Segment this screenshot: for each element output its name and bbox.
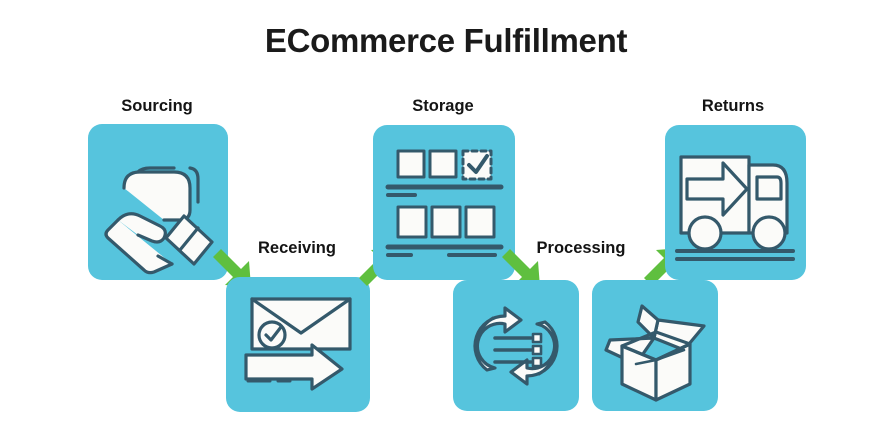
stage-label-storage: Storage <box>373 98 513 115</box>
stage-box-storage[interactable] <box>373 125 515 280</box>
stage-box-returns[interactable] <box>665 125 806 280</box>
delivery-truck-arrow-icon <box>665 125 806 280</box>
stage-label-returns: Returns <box>663 98 803 115</box>
warehouse-shelf-boxes-icon <box>373 125 515 280</box>
open-carton-box-icon <box>592 280 718 411</box>
stage-box-processing[interactable] <box>453 280 579 411</box>
circular-arrows-checklist-icon <box>453 280 579 411</box>
page-title: ECommerce Fulfillment <box>0 22 892 60</box>
envelope-check-arrow-icon <box>226 277 370 412</box>
stage-label-sourcing: Sourcing <box>87 98 227 115</box>
stage-box-packing[interactable] <box>592 280 718 411</box>
ecommerce-fulfillment-diagram: ECommerce Fulfillment Sourcing Receiving… <box>0 0 892 437</box>
stage-box-receiving[interactable] <box>226 277 370 412</box>
